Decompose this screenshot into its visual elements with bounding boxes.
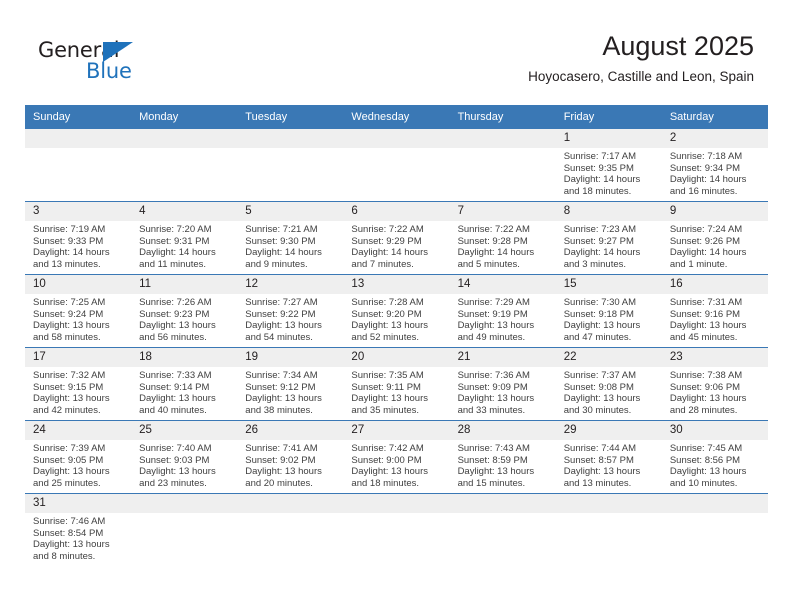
sunrise-text: Sunrise: 7:36 AM [458, 370, 550, 382]
daylight-text-line2: and 58 minutes. [33, 332, 125, 344]
calendar-cell-empty [237, 129, 343, 202]
daylight-text-line2: and 28 minutes. [670, 405, 762, 417]
daylight-text-line2: and 47 minutes. [564, 332, 656, 344]
sunset-text: Sunset: 9:31 PM [139, 236, 231, 248]
day-number: 3 [25, 202, 131, 221]
daylight-text-line2: and 42 minutes. [33, 405, 125, 417]
daylight-text-line1: Daylight: 13 hours [33, 466, 125, 478]
day-number [237, 494, 343, 513]
calendar-day-cell[interactable]: 8Sunrise: 7:23 AMSunset: 9:27 PMDaylight… [556, 202, 662, 275]
day-sun-info: Sunrise: 7:25 AMSunset: 9:24 PMDaylight:… [25, 294, 131, 343]
day-number: 17 [25, 348, 131, 367]
day-number: 14 [450, 275, 556, 294]
weekday-header-friday: Friday [556, 105, 662, 129]
day-sun-info: Sunrise: 7:23 AMSunset: 9:27 PMDaylight:… [556, 221, 662, 270]
sunrise-text: Sunrise: 7:24 AM [670, 224, 762, 236]
calendar-day-cell[interactable]: 25Sunrise: 7:40 AMSunset: 9:03 PMDayligh… [131, 421, 237, 494]
sunrise-text: Sunrise: 7:32 AM [33, 370, 125, 382]
sunset-text: Sunset: 9:02 PM [245, 455, 337, 467]
sunrise-text: Sunrise: 7:40 AM [139, 443, 231, 455]
sunrise-text: Sunrise: 7:18 AM [670, 151, 762, 163]
weekday-header-saturday: Saturday [662, 105, 768, 129]
daylight-text-line2: and 9 minutes. [245, 259, 337, 271]
day-number [662, 494, 768, 513]
sunrise-text: Sunrise: 7:19 AM [33, 224, 125, 236]
sunset-text: Sunset: 9:24 PM [33, 309, 125, 321]
day-sun-info: Sunrise: 7:45 AMSunset: 8:56 PMDaylight:… [662, 440, 768, 489]
day-number [343, 129, 449, 148]
day-sun-info: Sunrise: 7:29 AMSunset: 9:19 PMDaylight:… [450, 294, 556, 343]
daylight-text-line2: and 54 minutes. [245, 332, 337, 344]
daylight-text-line1: Daylight: 13 hours [458, 466, 550, 478]
day-number [450, 494, 556, 513]
day-sun-info: Sunrise: 7:43 AMSunset: 8:59 PMDaylight:… [450, 440, 556, 489]
day-number: 4 [131, 202, 237, 221]
daylight-text-line1: Daylight: 13 hours [245, 466, 337, 478]
day-sun-info: Sunrise: 7:37 AMSunset: 9:08 PMDaylight:… [556, 367, 662, 416]
sunrise-text: Sunrise: 7:38 AM [670, 370, 762, 382]
sunset-text: Sunset: 8:54 PM [33, 528, 125, 540]
day-cell-inner: 14Sunrise: 7:29 AMSunset: 9:19 PMDayligh… [450, 275, 556, 347]
daylight-text-line1: Daylight: 13 hours [670, 393, 762, 405]
day-cell-inner: 12Sunrise: 7:27 AMSunset: 9:22 PMDayligh… [237, 275, 343, 347]
daylight-text-line2: and 18 minutes. [564, 186, 656, 198]
weekday-header-thursday: Thursday [450, 105, 556, 129]
calendar-cell-empty [25, 129, 131, 202]
day-number: 12 [237, 275, 343, 294]
sunset-text: Sunset: 8:56 PM [670, 455, 762, 467]
sunset-text: Sunset: 9:19 PM [458, 309, 550, 321]
sunrise-text: Sunrise: 7:30 AM [564, 297, 656, 309]
day-cell-inner: 2Sunrise: 7:18 AMSunset: 9:34 PMDaylight… [662, 129, 768, 201]
day-number: 30 [662, 421, 768, 440]
daylight-text-line1: Daylight: 14 hours [670, 174, 762, 186]
general-blue-logo: General Blue [38, 38, 238, 88]
calendar-day-cell[interactable]: 15Sunrise: 7:30 AMSunset: 9:18 PMDayligh… [556, 275, 662, 348]
day-sun-info: Sunrise: 7:35 AMSunset: 9:11 PMDaylight:… [343, 367, 449, 416]
day-cell-inner [25, 129, 131, 201]
sunset-text: Sunset: 9:06 PM [670, 382, 762, 394]
day-sun-info: Sunrise: 7:19 AMSunset: 9:33 PMDaylight:… [25, 221, 131, 270]
calendar-day-cell[interactable]: 3Sunrise: 7:19 AMSunset: 9:33 PMDaylight… [25, 202, 131, 275]
daylight-text-line2: and 11 minutes. [139, 259, 231, 271]
day-cell-inner: 22Sunrise: 7:37 AMSunset: 9:08 PMDayligh… [556, 348, 662, 420]
calendar-week-row: 24Sunrise: 7:39 AMSunset: 9:05 PMDayligh… [25, 421, 768, 494]
day-cell-inner: 26Sunrise: 7:41 AMSunset: 9:02 PMDayligh… [237, 421, 343, 493]
daylight-text-line1: Daylight: 13 hours [351, 320, 443, 332]
day-cell-inner [343, 129, 449, 201]
day-cell-inner: 10Sunrise: 7:25 AMSunset: 9:24 PMDayligh… [25, 275, 131, 347]
calendar-day-cell[interactable]: 16Sunrise: 7:31 AMSunset: 9:16 PMDayligh… [662, 275, 768, 348]
day-number: 20 [343, 348, 449, 367]
daylight-text-line1: Daylight: 13 hours [351, 466, 443, 478]
sunset-text: Sunset: 9:03 PM [139, 455, 231, 467]
calendar-cell-empty [343, 129, 449, 202]
calendar-day-cell[interactable]: 20Sunrise: 7:35 AMSunset: 9:11 PMDayligh… [343, 348, 449, 421]
daylight-text-line1: Daylight: 13 hours [351, 393, 443, 405]
day-number [131, 494, 237, 513]
sunrise-text: Sunrise: 7:39 AM [33, 443, 125, 455]
day-cell-inner: 23Sunrise: 7:38 AMSunset: 9:06 PMDayligh… [662, 348, 768, 420]
sunset-text: Sunset: 9:12 PM [245, 382, 337, 394]
day-cell-inner [237, 129, 343, 201]
calendar-page: General Blue August 2025 Hoyocasero, Cas… [0, 0, 792, 612]
calendar-day-cell[interactable]: 30Sunrise: 7:45 AMSunset: 8:56 PMDayligh… [662, 421, 768, 494]
calendar-day-cell[interactable]: 29Sunrise: 7:44 AMSunset: 8:57 PMDayligh… [556, 421, 662, 494]
sunset-text: Sunset: 9:33 PM [33, 236, 125, 248]
calendar-body: 1Sunrise: 7:17 AMSunset: 9:35 PMDaylight… [25, 129, 768, 567]
sunrise-text: Sunrise: 7:27 AM [245, 297, 337, 309]
title-block: August 2025 Hoyocasero, Castille and Leo… [528, 30, 754, 86]
daylight-text-line2: and 40 minutes. [139, 405, 231, 417]
daylight-text-line1: Daylight: 14 hours [670, 247, 762, 259]
calendar-week-row: 10Sunrise: 7:25 AMSunset: 9:24 PMDayligh… [25, 275, 768, 348]
daylight-text-line1: Daylight: 14 hours [351, 247, 443, 259]
sunrise-text: Sunrise: 7:20 AM [139, 224, 231, 236]
calendar-header-row: SundayMondayTuesdayWednesdayThursdayFrid… [25, 105, 768, 129]
daylight-text-line2: and 13 minutes. [564, 478, 656, 490]
daylight-text-line1: Daylight: 13 hours [670, 320, 762, 332]
day-cell-inner: 5Sunrise: 7:21 AMSunset: 9:30 PMDaylight… [237, 202, 343, 274]
weekday-header-wednesday: Wednesday [343, 105, 449, 129]
day-sun-info: Sunrise: 7:39 AMSunset: 9:05 PMDaylight:… [25, 440, 131, 489]
day-cell-inner: 16Sunrise: 7:31 AMSunset: 9:16 PMDayligh… [662, 275, 768, 347]
daylight-text-line2: and 49 minutes. [458, 332, 550, 344]
sunset-text: Sunset: 9:08 PM [564, 382, 656, 394]
calendar-day-cell[interactable]: 22Sunrise: 7:37 AMSunset: 9:08 PMDayligh… [556, 348, 662, 421]
day-sun-info: Sunrise: 7:27 AMSunset: 9:22 PMDaylight:… [237, 294, 343, 343]
calendar-day-cell[interactable]: 21Sunrise: 7:36 AMSunset: 9:09 PMDayligh… [450, 348, 556, 421]
day-number: 11 [131, 275, 237, 294]
day-number [25, 129, 131, 148]
page-title: August 2025 [528, 30, 754, 62]
day-cell-inner [450, 129, 556, 201]
day-cell-inner: 8Sunrise: 7:23 AMSunset: 9:27 PMDaylight… [556, 202, 662, 274]
day-number: 2 [662, 129, 768, 148]
calendar-week-row: 3Sunrise: 7:19 AMSunset: 9:33 PMDaylight… [25, 202, 768, 275]
sunrise-text: Sunrise: 7:43 AM [458, 443, 550, 455]
day-number [556, 494, 662, 513]
daylight-text-line2: and 35 minutes. [351, 405, 443, 417]
daylight-text-line2: and 15 minutes. [458, 478, 550, 490]
day-sun-info: Sunrise: 7:31 AMSunset: 9:16 PMDaylight:… [662, 294, 768, 343]
daylight-text-line1: Daylight: 13 hours [245, 320, 337, 332]
calendar-cell-empty [450, 129, 556, 202]
daylight-text-line2: and 38 minutes. [245, 405, 337, 417]
day-number: 5 [237, 202, 343, 221]
day-number [131, 129, 237, 148]
day-sun-info: Sunrise: 7:20 AMSunset: 9:31 PMDaylight:… [131, 221, 237, 270]
sunset-text: Sunset: 9:09 PM [458, 382, 550, 394]
sunset-text: Sunset: 8:57 PM [564, 455, 656, 467]
calendar-day-cell[interactable]: 9Sunrise: 7:24 AMSunset: 9:26 PMDaylight… [662, 202, 768, 275]
day-cell-inner: 28Sunrise: 7:43 AMSunset: 8:59 PMDayligh… [450, 421, 556, 493]
daylight-text-line2: and 7 minutes. [351, 259, 443, 271]
day-sun-info: Sunrise: 7:40 AMSunset: 9:03 PMDaylight:… [131, 440, 237, 489]
calendar-cell-empty [450, 494, 556, 567]
day-cell-inner: 4Sunrise: 7:20 AMSunset: 9:31 PMDaylight… [131, 202, 237, 274]
day-number: 31 [25, 494, 131, 513]
calendar-day-cell[interactable]: 7Sunrise: 7:22 AMSunset: 9:28 PMDaylight… [450, 202, 556, 275]
day-number: 23 [662, 348, 768, 367]
day-number: 29 [556, 421, 662, 440]
day-cell-inner: 6Sunrise: 7:22 AMSunset: 9:29 PMDaylight… [343, 202, 449, 274]
sunrise-text: Sunrise: 7:37 AM [564, 370, 656, 382]
calendar-day-cell[interactable]: 31Sunrise: 7:46 AMSunset: 8:54 PMDayligh… [25, 494, 131, 567]
day-cell-inner: 1Sunrise: 7:17 AMSunset: 9:35 PMDaylight… [556, 129, 662, 201]
sunrise-text: Sunrise: 7:28 AM [351, 297, 443, 309]
sunset-text: Sunset: 8:59 PM [458, 455, 550, 467]
calendar-day-cell[interactable]: 4Sunrise: 7:20 AMSunset: 9:31 PMDaylight… [131, 202, 237, 275]
daylight-text-line1: Daylight: 13 hours [458, 393, 550, 405]
page-header: General Blue August 2025 Hoyocasero, Cas… [0, 0, 792, 98]
day-cell-inner: 30Sunrise: 7:45 AMSunset: 8:56 PMDayligh… [662, 421, 768, 493]
day-cell-inner [662, 494, 768, 566]
calendar-table: SundayMondayTuesdayWednesdayThursdayFrid… [25, 105, 768, 566]
day-number: 6 [343, 202, 449, 221]
sunset-text: Sunset: 9:35 PM [564, 163, 656, 175]
calendar-cell-empty [343, 494, 449, 567]
day-cell-inner: 20Sunrise: 7:35 AMSunset: 9:11 PMDayligh… [343, 348, 449, 420]
day-cell-inner: 9Sunrise: 7:24 AMSunset: 9:26 PMDaylight… [662, 202, 768, 274]
daylight-text-line2: and 1 minute. [670, 259, 762, 271]
day-sun-info: Sunrise: 7:41 AMSunset: 9:02 PMDaylight:… [237, 440, 343, 489]
day-cell-inner: 24Sunrise: 7:39 AMSunset: 9:05 PMDayligh… [25, 421, 131, 493]
day-number: 1 [556, 129, 662, 148]
day-sun-info: Sunrise: 7:26 AMSunset: 9:23 PMDaylight:… [131, 294, 237, 343]
sunset-text: Sunset: 9:20 PM [351, 309, 443, 321]
daylight-text-line2: and 52 minutes. [351, 332, 443, 344]
daylight-text-line2: and 30 minutes. [564, 405, 656, 417]
calendar-day-cell[interactable]: 14Sunrise: 7:29 AMSunset: 9:19 PMDayligh… [450, 275, 556, 348]
page-subtitle: Hoyocasero, Castille and Leon, Spain [528, 68, 754, 86]
weekday-header-monday: Monday [131, 105, 237, 129]
daylight-text-line1: Daylight: 13 hours [139, 466, 231, 478]
day-sun-info: Sunrise: 7:17 AMSunset: 9:35 PMDaylight:… [556, 148, 662, 197]
daylight-text-line1: Daylight: 13 hours [670, 466, 762, 478]
sunrise-text: Sunrise: 7:34 AM [245, 370, 337, 382]
daylight-text-line1: Daylight: 13 hours [564, 393, 656, 405]
daylight-text-line1: Daylight: 13 hours [564, 466, 656, 478]
day-sun-info: Sunrise: 7:42 AMSunset: 9:00 PMDaylight:… [343, 440, 449, 489]
day-number: 8 [556, 202, 662, 221]
calendar-day-cell[interactable]: 23Sunrise: 7:38 AMSunset: 9:06 PMDayligh… [662, 348, 768, 421]
calendar-week-row: 1Sunrise: 7:17 AMSunset: 9:35 PMDaylight… [25, 129, 768, 202]
day-cell-inner: 25Sunrise: 7:40 AMSunset: 9:03 PMDayligh… [131, 421, 237, 493]
daylight-text-line2: and 5 minutes. [458, 259, 550, 271]
weekday-header-tuesday: Tuesday [237, 105, 343, 129]
daylight-text-line2: and 20 minutes. [245, 478, 337, 490]
day-cell-inner: 17Sunrise: 7:32 AMSunset: 9:15 PMDayligh… [25, 348, 131, 420]
day-cell-inner: 29Sunrise: 7:44 AMSunset: 8:57 PMDayligh… [556, 421, 662, 493]
daylight-text-line2: and 3 minutes. [564, 259, 656, 271]
day-number: 28 [450, 421, 556, 440]
day-sun-info: Sunrise: 7:30 AMSunset: 9:18 PMDaylight:… [556, 294, 662, 343]
day-number: 22 [556, 348, 662, 367]
daylight-text-line1: Daylight: 14 hours [245, 247, 337, 259]
day-cell-inner: 13Sunrise: 7:28 AMSunset: 9:20 PMDayligh… [343, 275, 449, 347]
sunset-text: Sunset: 9:00 PM [351, 455, 443, 467]
day-number: 19 [237, 348, 343, 367]
calendar-day-cell[interactable]: 17Sunrise: 7:32 AMSunset: 9:15 PMDayligh… [25, 348, 131, 421]
sunrise-text: Sunrise: 7:21 AM [245, 224, 337, 236]
calendar-cell-empty [556, 494, 662, 567]
sunset-text: Sunset: 9:29 PM [351, 236, 443, 248]
calendar-day-cell[interactable]: 2Sunrise: 7:18 AMSunset: 9:34 PMDaylight… [662, 129, 768, 202]
sunset-text: Sunset: 9:30 PM [245, 236, 337, 248]
day-number: 21 [450, 348, 556, 367]
calendar-day-cell[interactable]: 18Sunrise: 7:33 AMSunset: 9:14 PMDayligh… [131, 348, 237, 421]
calendar-day-cell[interactable]: 11Sunrise: 7:26 AMSunset: 9:23 PMDayligh… [131, 275, 237, 348]
sunrise-text: Sunrise: 7:31 AM [670, 297, 762, 309]
sunset-text: Sunset: 9:26 PM [670, 236, 762, 248]
daylight-text-line1: Daylight: 14 hours [564, 174, 656, 186]
day-sun-info: Sunrise: 7:22 AMSunset: 9:29 PMDaylight:… [343, 221, 449, 270]
day-sun-info: Sunrise: 7:36 AMSunset: 9:09 PMDaylight:… [450, 367, 556, 416]
sunrise-text: Sunrise: 7:33 AM [139, 370, 231, 382]
sunset-text: Sunset: 9:23 PM [139, 309, 231, 321]
day-cell-inner: 27Sunrise: 7:42 AMSunset: 9:00 PMDayligh… [343, 421, 449, 493]
daylight-text-line1: Daylight: 14 hours [33, 247, 125, 259]
sunset-text: Sunset: 9:27 PM [564, 236, 656, 248]
day-number [450, 129, 556, 148]
day-sun-info: Sunrise: 7:33 AMSunset: 9:14 PMDaylight:… [131, 367, 237, 416]
daylight-text-line1: Daylight: 14 hours [458, 247, 550, 259]
day-number: 15 [556, 275, 662, 294]
sunrise-text: Sunrise: 7:17 AM [564, 151, 656, 163]
day-number [343, 494, 449, 513]
calendar-day-cell[interactable]: 1Sunrise: 7:17 AMSunset: 9:35 PMDaylight… [556, 129, 662, 202]
daylight-text-line2: and 45 minutes. [670, 332, 762, 344]
calendar-day-cell[interactable]: 19Sunrise: 7:34 AMSunset: 9:12 PMDayligh… [237, 348, 343, 421]
daylight-text-line2: and 8 minutes. [33, 551, 125, 563]
day-cell-inner [556, 494, 662, 566]
sunset-text: Sunset: 9:15 PM [33, 382, 125, 394]
sunrise-text: Sunrise: 7:44 AM [564, 443, 656, 455]
day-number: 24 [25, 421, 131, 440]
calendar-day-cell[interactable]: 27Sunrise: 7:42 AMSunset: 9:00 PMDayligh… [343, 421, 449, 494]
calendar-day-cell[interactable]: 24Sunrise: 7:39 AMSunset: 9:05 PMDayligh… [25, 421, 131, 494]
sunset-text: Sunset: 9:05 PM [33, 455, 125, 467]
day-cell-inner [131, 494, 237, 566]
daylight-text-line2: and 23 minutes. [139, 478, 231, 490]
day-sun-info: Sunrise: 7:28 AMSunset: 9:20 PMDaylight:… [343, 294, 449, 343]
daylight-text-line2: and 25 minutes. [33, 478, 125, 490]
day-sun-info: Sunrise: 7:44 AMSunset: 8:57 PMDaylight:… [556, 440, 662, 489]
calendar-day-cell[interactable]: 28Sunrise: 7:43 AMSunset: 8:59 PMDayligh… [450, 421, 556, 494]
daylight-text-line1: Daylight: 14 hours [139, 247, 231, 259]
day-number [237, 129, 343, 148]
day-cell-inner [450, 494, 556, 566]
day-sun-info: Sunrise: 7:46 AMSunset: 8:54 PMDaylight:… [25, 513, 131, 562]
day-cell-inner [343, 494, 449, 566]
sunset-text: Sunset: 9:18 PM [564, 309, 656, 321]
day-sun-info: Sunrise: 7:22 AMSunset: 9:28 PMDaylight:… [450, 221, 556, 270]
day-number: 26 [237, 421, 343, 440]
day-number: 18 [131, 348, 237, 367]
sunrise-text: Sunrise: 7:46 AM [33, 516, 125, 528]
day-sun-info: Sunrise: 7:32 AMSunset: 9:15 PMDaylight:… [25, 367, 131, 416]
day-number: 25 [131, 421, 237, 440]
sunrise-text: Sunrise: 7:23 AM [564, 224, 656, 236]
sunset-text: Sunset: 9:11 PM [351, 382, 443, 394]
day-number: 7 [450, 202, 556, 221]
day-cell-inner: 21Sunrise: 7:36 AMSunset: 9:09 PMDayligh… [450, 348, 556, 420]
sunrise-text: Sunrise: 7:26 AM [139, 297, 231, 309]
sunrise-text: Sunrise: 7:29 AM [458, 297, 550, 309]
daylight-text-line2: and 10 minutes. [670, 478, 762, 490]
daylight-text-line1: Daylight: 13 hours [458, 320, 550, 332]
daylight-text-line1: Daylight: 13 hours [33, 320, 125, 332]
day-number: 27 [343, 421, 449, 440]
sunrise-text: Sunrise: 7:25 AM [33, 297, 125, 309]
daylight-text-line1: Daylight: 13 hours [33, 539, 125, 551]
sunrise-text: Sunrise: 7:41 AM [245, 443, 337, 455]
day-sun-info: Sunrise: 7:38 AMSunset: 9:06 PMDaylight:… [662, 367, 768, 416]
sunset-text: Sunset: 9:28 PM [458, 236, 550, 248]
calendar-week-row: 31Sunrise: 7:46 AMSunset: 8:54 PMDayligh… [25, 494, 768, 567]
day-sun-info: Sunrise: 7:18 AMSunset: 9:34 PMDaylight:… [662, 148, 768, 197]
daylight-text-line2: and 16 minutes. [670, 186, 762, 198]
sunset-text: Sunset: 9:34 PM [670, 163, 762, 175]
day-cell-inner: 15Sunrise: 7:30 AMSunset: 9:18 PMDayligh… [556, 275, 662, 347]
calendar-day-cell[interactable]: 26Sunrise: 7:41 AMSunset: 9:02 PMDayligh… [237, 421, 343, 494]
day-sun-info: Sunrise: 7:34 AMSunset: 9:12 PMDaylight:… [237, 367, 343, 416]
calendar-cell-empty [131, 129, 237, 202]
daylight-text-line1: Daylight: 13 hours [564, 320, 656, 332]
day-number: 16 [662, 275, 768, 294]
day-cell-inner: 18Sunrise: 7:33 AMSunset: 9:14 PMDayligh… [131, 348, 237, 420]
day-cell-inner [131, 129, 237, 201]
daylight-text-line1: Daylight: 13 hours [245, 393, 337, 405]
day-cell-inner [237, 494, 343, 566]
calendar-cell-empty [131, 494, 237, 567]
calendar-day-cell[interactable]: 5Sunrise: 7:21 AMSunset: 9:30 PMDaylight… [237, 202, 343, 275]
day-number: 10 [25, 275, 131, 294]
day-cell-inner: 11Sunrise: 7:26 AMSunset: 9:23 PMDayligh… [131, 275, 237, 347]
weekday-header-sunday: Sunday [25, 105, 131, 129]
sunset-text: Sunset: 9:22 PM [245, 309, 337, 321]
day-sun-info: Sunrise: 7:21 AMSunset: 9:30 PMDaylight:… [237, 221, 343, 270]
calendar-day-cell[interactable]: 12Sunrise: 7:27 AMSunset: 9:22 PMDayligh… [237, 275, 343, 348]
sunrise-text: Sunrise: 7:22 AM [458, 224, 550, 236]
calendar-day-cell[interactable]: 6Sunrise: 7:22 AMSunset: 9:29 PMDaylight… [343, 202, 449, 275]
sunrise-text: Sunrise: 7:22 AM [351, 224, 443, 236]
sunset-text: Sunset: 9:16 PM [670, 309, 762, 321]
calendar-day-cell[interactable]: 13Sunrise: 7:28 AMSunset: 9:20 PMDayligh… [343, 275, 449, 348]
day-sun-info: Sunrise: 7:24 AMSunset: 9:26 PMDaylight:… [662, 221, 768, 270]
sunrise-text: Sunrise: 7:45 AM [670, 443, 762, 455]
day-cell-inner: 3Sunrise: 7:19 AMSunset: 9:33 PMDaylight… [25, 202, 131, 274]
daylight-text-line1: Daylight: 14 hours [564, 247, 656, 259]
logo-text-blue: Blue [86, 59, 132, 83]
day-cell-inner: 31Sunrise: 7:46 AMSunset: 8:54 PMDayligh… [25, 494, 131, 566]
day-cell-inner: 19Sunrise: 7:34 AMSunset: 9:12 PMDayligh… [237, 348, 343, 420]
daylight-text-line1: Daylight: 13 hours [33, 393, 125, 405]
sunrise-text: Sunrise: 7:42 AM [351, 443, 443, 455]
daylight-text-line2: and 56 minutes. [139, 332, 231, 344]
day-number: 13 [343, 275, 449, 294]
daylight-text-line1: Daylight: 13 hours [139, 393, 231, 405]
calendar-week-row: 17Sunrise: 7:32 AMSunset: 9:15 PMDayligh… [25, 348, 768, 421]
calendar-day-cell[interactable]: 10Sunrise: 7:25 AMSunset: 9:24 PMDayligh… [25, 275, 131, 348]
daylight-text-line2: and 33 minutes. [458, 405, 550, 417]
sunrise-text: Sunrise: 7:35 AM [351, 370, 443, 382]
daylight-text-line2: and 18 minutes. [351, 478, 443, 490]
day-number: 9 [662, 202, 768, 221]
day-cell-inner: 7Sunrise: 7:22 AMSunset: 9:28 PMDaylight… [450, 202, 556, 274]
daylight-text-line2: and 13 minutes. [33, 259, 125, 271]
